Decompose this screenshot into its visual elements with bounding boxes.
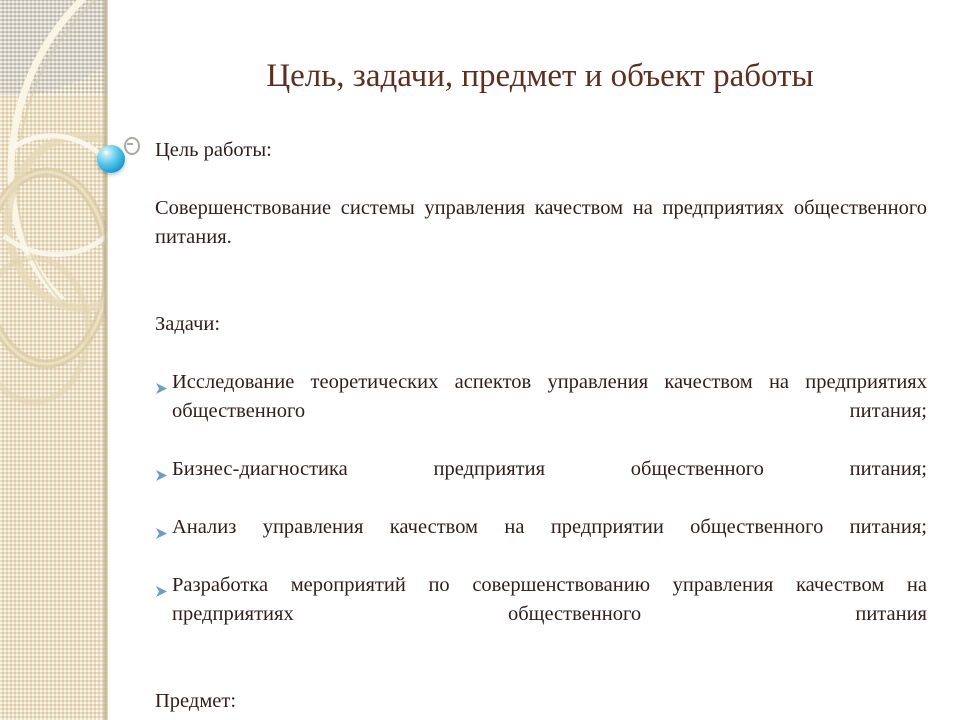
subject-heading: Предмет: (155, 687, 927, 720)
slide-title: Цель, задачи, предмет и объект работы (150, 56, 930, 96)
blue-sphere-icon (97, 145, 125, 173)
task-list-item: Разработка мероприятий по совершенствова… (155, 571, 927, 658)
goal-text: Совершенствование системы управления кач… (155, 194, 927, 281)
arrow-bullet-icon (155, 520, 168, 533)
task-list-item: Анализ управления качеством на предприят… (155, 513, 927, 571)
task-list-item: Исследование теоретических аспектов упра… (155, 368, 927, 455)
spacer-after-goal (155, 281, 927, 310)
panel-edge-stripe (103, 0, 108, 720)
arrow-bullet-icon (155, 462, 168, 475)
tasks-list: Исследование теоретических аспектов упра… (155, 368, 927, 658)
small-ring-glyph-icon (124, 137, 140, 155)
task-list-item-text: Разработка мероприятий по совершенствова… (172, 574, 927, 625)
task-list-item-text: Анализ управления качеством на предприят… (172, 516, 927, 538)
goal-heading: Цель работы: (155, 136, 927, 194)
arrow-bullet-icon (155, 375, 168, 388)
presentation-slide: Цель, задачи, предмет и объект работы Це… (0, 0, 960, 720)
task-list-item-text: Исследование теоретических аспектов упра… (172, 371, 927, 422)
arrow-bullet-icon (155, 578, 168, 591)
task-list-item-text: Бизнес-диагностика предприятия обществен… (172, 458, 927, 480)
spacer-after-tasks (155, 658, 927, 687)
decorative-side-panel (0, 0, 108, 720)
slide-body: Цель работы: Совершенствование системы у… (155, 136, 927, 720)
tasks-heading: Задачи: (155, 310, 927, 368)
task-list-item: Бизнес-диагностика предприятия обществен… (155, 455, 927, 513)
panel-arc-artwork (0, 0, 108, 720)
